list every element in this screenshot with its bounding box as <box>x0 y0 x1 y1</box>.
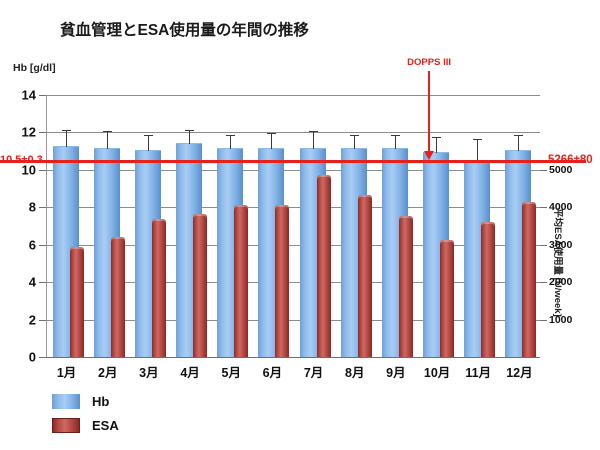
error-bar-cap-hb <box>514 135 523 136</box>
y-axis-left-title: Hb [g/dl] <box>13 62 56 74</box>
x-axis-tick-label: 5月 <box>222 362 241 381</box>
error-bar-hb <box>477 140 478 161</box>
x-axis-tick-label: 10月 <box>424 362 450 381</box>
error-bar-hb <box>107 132 108 149</box>
y-tick-left-12 <box>39 132 46 133</box>
reference-line <box>0 160 586 163</box>
plot-area: 02468101214 10002000300040005000 10.5±0.… <box>46 95 540 357</box>
y-axis-right-title: 平均ESA使用量 [U/week] <box>552 208 566 317</box>
y-axis-right-tick-label: 5000 <box>549 164 572 176</box>
error-bar-cap-hb <box>350 135 359 136</box>
bar-group <box>464 95 496 357</box>
y-tick-left-4 <box>39 282 46 283</box>
y-axis-right-tick-label: 1000 <box>549 314 572 326</box>
x-axis-tick-label: 3月 <box>139 362 158 381</box>
error-bar-cap-hb <box>309 131 318 132</box>
bar-group <box>300 95 332 357</box>
gridline-left-0 <box>46 357 540 358</box>
y-tick-left-14 <box>39 95 46 96</box>
y-tick-left-6 <box>39 245 46 246</box>
error-bar-cap-hb <box>432 137 441 138</box>
bar-esa <box>358 195 372 357</box>
reference-line-right-label: 5266±80 <box>548 154 593 166</box>
bar-esa <box>152 219 166 357</box>
x-axis-tick-label: 2月 <box>98 362 117 381</box>
y-tick-right-3000 <box>540 245 547 246</box>
error-bar-hb <box>395 136 396 149</box>
dopps-annotation-label: DOPPS III <box>407 57 451 68</box>
reference-line-left-label: 10.5±0.3 <box>0 154 43 166</box>
y-axis-left-tick-label: 2 <box>29 312 36 327</box>
x-axis-tick-label: 12月 <box>506 362 532 381</box>
bar-esa <box>111 237 125 357</box>
y-tick-right-4000 <box>540 207 547 208</box>
x-axis-tick-label: 11月 <box>465 362 491 381</box>
error-bar-cap-hb <box>391 135 400 136</box>
x-axis-tick-label: 7月 <box>304 362 323 381</box>
y-axis-left-tick-label: 8 <box>29 200 36 215</box>
error-bar-cap-hb <box>267 133 276 134</box>
error-bar-cap-hb <box>226 135 235 136</box>
y-axis-left-tick-label: 4 <box>29 275 36 290</box>
bar-group <box>505 95 537 357</box>
bar-esa <box>317 175 331 357</box>
legend-label: ESA <box>92 418 119 433</box>
y-axis-left-tick-label: 6 <box>29 237 36 252</box>
bar-esa <box>522 202 536 357</box>
bar-group <box>94 95 126 357</box>
error-bar-cap-hb <box>103 131 112 132</box>
bar-group <box>341 95 373 357</box>
y-tick-left-8 <box>39 207 46 208</box>
error-bar-hb <box>313 132 314 149</box>
error-bar-hb <box>66 131 67 148</box>
chart-slide: 貧血管理とESA使用量の年間の推移 Hb [g/dl] 平均ESA使用量 [U/… <box>0 0 600 450</box>
y-axis-left-spine <box>46 95 47 357</box>
x-axis-tick-label: 8月 <box>345 362 364 381</box>
legend-item-esa[interactable]: ESA <box>52 413 119 437</box>
bar-group <box>258 95 290 357</box>
bar-esa <box>275 205 289 357</box>
bar-esa <box>193 214 207 357</box>
y-tick-right-2000 <box>540 282 547 283</box>
y-axis-left-tick-label: 12 <box>22 125 36 140</box>
x-axis-tick-label: 6月 <box>263 362 282 381</box>
bar-group <box>53 95 85 357</box>
x-axis-tick-label: 4月 <box>180 362 199 381</box>
error-bar-cap-hb <box>144 135 153 136</box>
legend-item-hb[interactable]: Hb <box>52 389 119 413</box>
bar-esa <box>234 205 248 357</box>
error-bar-cap-hb <box>473 139 482 140</box>
x-axis-tick-label: 1月 <box>57 362 76 381</box>
bar-esa <box>481 222 495 357</box>
chart-title: 貧血管理とESA使用量の年間の推移 <box>60 18 540 40</box>
bar-group <box>217 95 249 357</box>
y-axis-left-tick-label: 14 <box>22 88 36 103</box>
dopps-arrow-head-icon <box>424 151 434 160</box>
y-axis-right-tick-label: 2000 <box>549 276 572 288</box>
bar-esa <box>399 216 413 357</box>
y-tick-right-1000 <box>540 320 547 321</box>
error-bar-hb <box>189 131 190 144</box>
legend-label: Hb <box>92 394 109 409</box>
y-tick-left-10 <box>39 170 46 171</box>
legend-swatch-esa-icon <box>52 418 80 433</box>
y-axis-right-tick-label: 4000 <box>549 201 572 213</box>
y-axis-left-tick-label: 0 <box>29 350 36 365</box>
y-tick-left-2 <box>39 320 46 321</box>
bar-group <box>382 95 414 357</box>
bar-group <box>135 95 167 357</box>
error-bar-hb <box>230 136 231 149</box>
error-bar-hb <box>436 138 437 153</box>
bar-esa <box>440 240 454 357</box>
bar-group <box>176 95 208 357</box>
legend-swatch-hb-icon <box>52 394 80 409</box>
y-tick-right-5000 <box>540 170 547 171</box>
error-bar-hb <box>271 134 272 149</box>
error-bar-hb <box>354 136 355 149</box>
y-axis-right-tick-label: 3000 <box>549 239 572 251</box>
error-bar-cap-hb <box>185 130 194 131</box>
error-bar-hb <box>148 136 149 151</box>
chart-legend: HbESA <box>52 389 119 437</box>
error-bar-cap-hb <box>62 130 71 131</box>
dopps-arrow-line <box>428 71 430 151</box>
error-bar-hb <box>518 136 519 151</box>
x-axis-tick-label: 9月 <box>386 362 405 381</box>
bar-esa <box>70 247 84 357</box>
y-tick-left-0 <box>39 357 46 358</box>
